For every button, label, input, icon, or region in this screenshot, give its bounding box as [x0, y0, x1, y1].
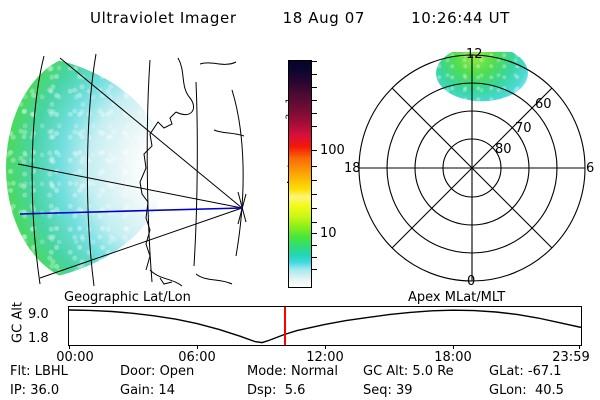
- colorbar-tick: [311, 269, 317, 270]
- geographic-overlay: [0, 42, 258, 292]
- colorbar-tick: [311, 180, 317, 181]
- mlat-label-70: 70: [515, 122, 532, 135]
- current-time-marker: [284, 307, 286, 345]
- mlt-label-12: 12: [466, 48, 483, 61]
- observation-time: 10:26:44 UT: [411, 9, 510, 27]
- mlt-label-18: 18: [344, 162, 361, 175]
- colorbar-tick-label-10: 10: [320, 227, 337, 240]
- colorbar-tick: [311, 166, 317, 167]
- mlt-label-0: 0: [467, 275, 475, 288]
- header: Ultraviolet Imager 18 Aug 07 10:26:44 UT: [0, 6, 600, 30]
- right-panel-caption: Apex MLat/MLT: [408, 290, 505, 305]
- mlat-label-60: 60: [535, 98, 552, 111]
- colorbar-tick: [311, 61, 317, 62]
- colorbar-tick: [311, 100, 317, 101]
- colorbar-panel: photon cm-2s-1 100 10: [262, 42, 340, 292]
- status-gain: Gain: 14: [120, 381, 175, 400]
- colorbar-tick: [311, 126, 317, 127]
- geographic-image-panel: [0, 42, 258, 292]
- colorbar-tick: [311, 113, 317, 114]
- status-ip: IP: 36.0: [10, 381, 59, 400]
- colorbar-major-tick-100: [311, 150, 317, 151]
- instrument-title: Ultraviolet Imager: [90, 9, 237, 27]
- uvi-display: Ultraviolet Imager 18 Aug 07 10:26:44 UT: [0, 0, 600, 400]
- status-readout: Flt: LBHL Door: Open Mode: Normal GC Alt…: [0, 362, 600, 400]
- colorbar-tick: [311, 257, 317, 258]
- orbit-xtick: [579, 345, 580, 349]
- status-flt: Flt: LBHL: [10, 362, 68, 381]
- orbit-xtick: [325, 345, 326, 349]
- orbit-xtick: [453, 345, 454, 349]
- mlt-label-6: 6: [586, 162, 594, 175]
- colorbar-gradient: [288, 60, 312, 288]
- polar-grid: [340, 42, 600, 292]
- observation-date: 18 Aug 07: [283, 9, 365, 27]
- status-door: Door: Open: [120, 362, 194, 381]
- orbit-xtick: [197, 345, 198, 349]
- colorbar-tick: [311, 87, 317, 88]
- colorbar-tick: [311, 74, 317, 75]
- colorbar-tick: [311, 245, 317, 246]
- status-glat: GLat: -67.1: [489, 362, 562, 381]
- orbit-track-line: [20, 208, 242, 214]
- colorbar-major-tick-10: [311, 233, 317, 234]
- status-gcalt: GC Alt: 5.0 Re: [363, 362, 454, 381]
- status-glon: GLon: 40.5: [489, 381, 564, 400]
- orbit-plot: 9.0 1.8 00:00 06:00 12:00 18:00 23:59: [0, 306, 600, 360]
- colorbar-tick: [311, 208, 317, 209]
- orbit-xtick: [69, 345, 70, 349]
- status-dsp: Dsp: 5.6: [247, 381, 305, 400]
- status-seq: Seq: 39: [363, 381, 413, 400]
- polar-plot-panel: 12 6 0 18 60 70 80: [340, 42, 600, 292]
- colorbar-tick: [311, 222, 317, 223]
- colorbar-tick: [311, 194, 317, 195]
- orbit-plot-frame: 00:00 06:00 12:00 18:00 23:59: [68, 306, 582, 346]
- mlat-label-80: 80: [495, 143, 512, 156]
- orbit-curve: [69, 307, 581, 345]
- left-panel-caption: Geographic Lat/Lon: [64, 290, 191, 305]
- status-mode: Mode: Normal: [247, 362, 338, 381]
